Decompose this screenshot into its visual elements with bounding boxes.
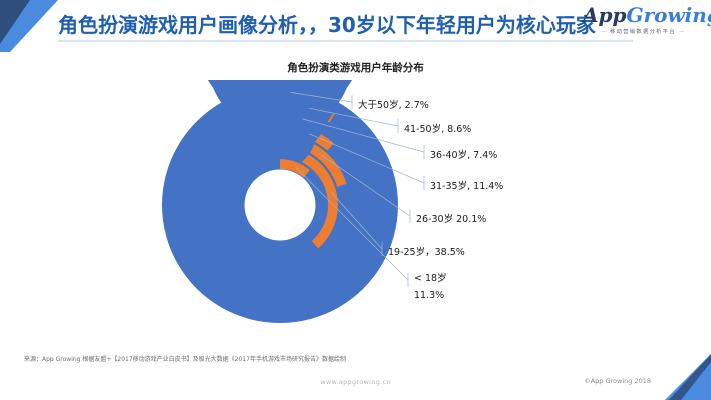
brand-logo-tagline: — 移动营销数据分析平台 — — [583, 28, 703, 35]
data-label-under-18-value: 11.3% — [414, 290, 444, 301]
chart-title: 角色扮演类游戏用户年龄分布 — [0, 60, 711, 75]
leader-line-1 — [310, 108, 398, 133]
tagline-dash-left: — — [602, 29, 607, 35]
data-label-under-18: < 18岁 — [414, 270, 447, 284]
data-label-19-25: 19-25岁，38.5% — [388, 244, 465, 258]
data-label-31-35: 31-35岁, 11.4% — [430, 178, 503, 192]
brand-logo-wordmark: AppGrowing — [583, 4, 703, 26]
leader-line-6 — [296, 167, 408, 287]
header-underline — [58, 40, 633, 42]
page-title: 角色扮演游戏用户画像分析，，30岁以下年轻用户为核心玩家 — [58, 9, 596, 38]
leader-line-3 — [310, 134, 424, 190]
chart-data-labels: 大于50岁, 2.7% 41-50岁, 8.6% 36-40岁, 7.4% 31… — [0, 80, 711, 330]
data-label-36-40: 36-40岁, 7.4% — [430, 147, 497, 161]
brand-logo-app: App — [583, 3, 627, 27]
corner-decoration-bottom-right — [645, 354, 711, 400]
data-label-41-50: 41-50岁, 8.6% — [404, 121, 471, 135]
tagline-text: 移动营销数据分析平台 — [610, 29, 676, 35]
leader-line-4 — [322, 155, 410, 223]
data-label-26-30: 26-30岁 20.1% — [416, 211, 486, 225]
copyright-note: ©App Growing 2018 — [584, 377, 651, 385]
slide-canvas: 角色扮演游戏用户画像分析，，30岁以下年轻用户为核心玩家 AppGrowing … — [0, 0, 711, 400]
brand-logo: AppGrowing — 移动营销数据分析平台 — — [583, 4, 703, 44]
source-note: 来源：App Growing 根据友盟+【2017移动游戏产业白皮书】及极光大数… — [24, 354, 346, 363]
data-label-over-50: 大于50岁, 2.7% — [358, 97, 429, 111]
brand-logo-growing: Growing — [627, 3, 711, 27]
tagline-dash-right: — — [679, 29, 684, 35]
leader-lines — [0, 80, 711, 330]
leader-line-0 — [291, 92, 352, 109]
